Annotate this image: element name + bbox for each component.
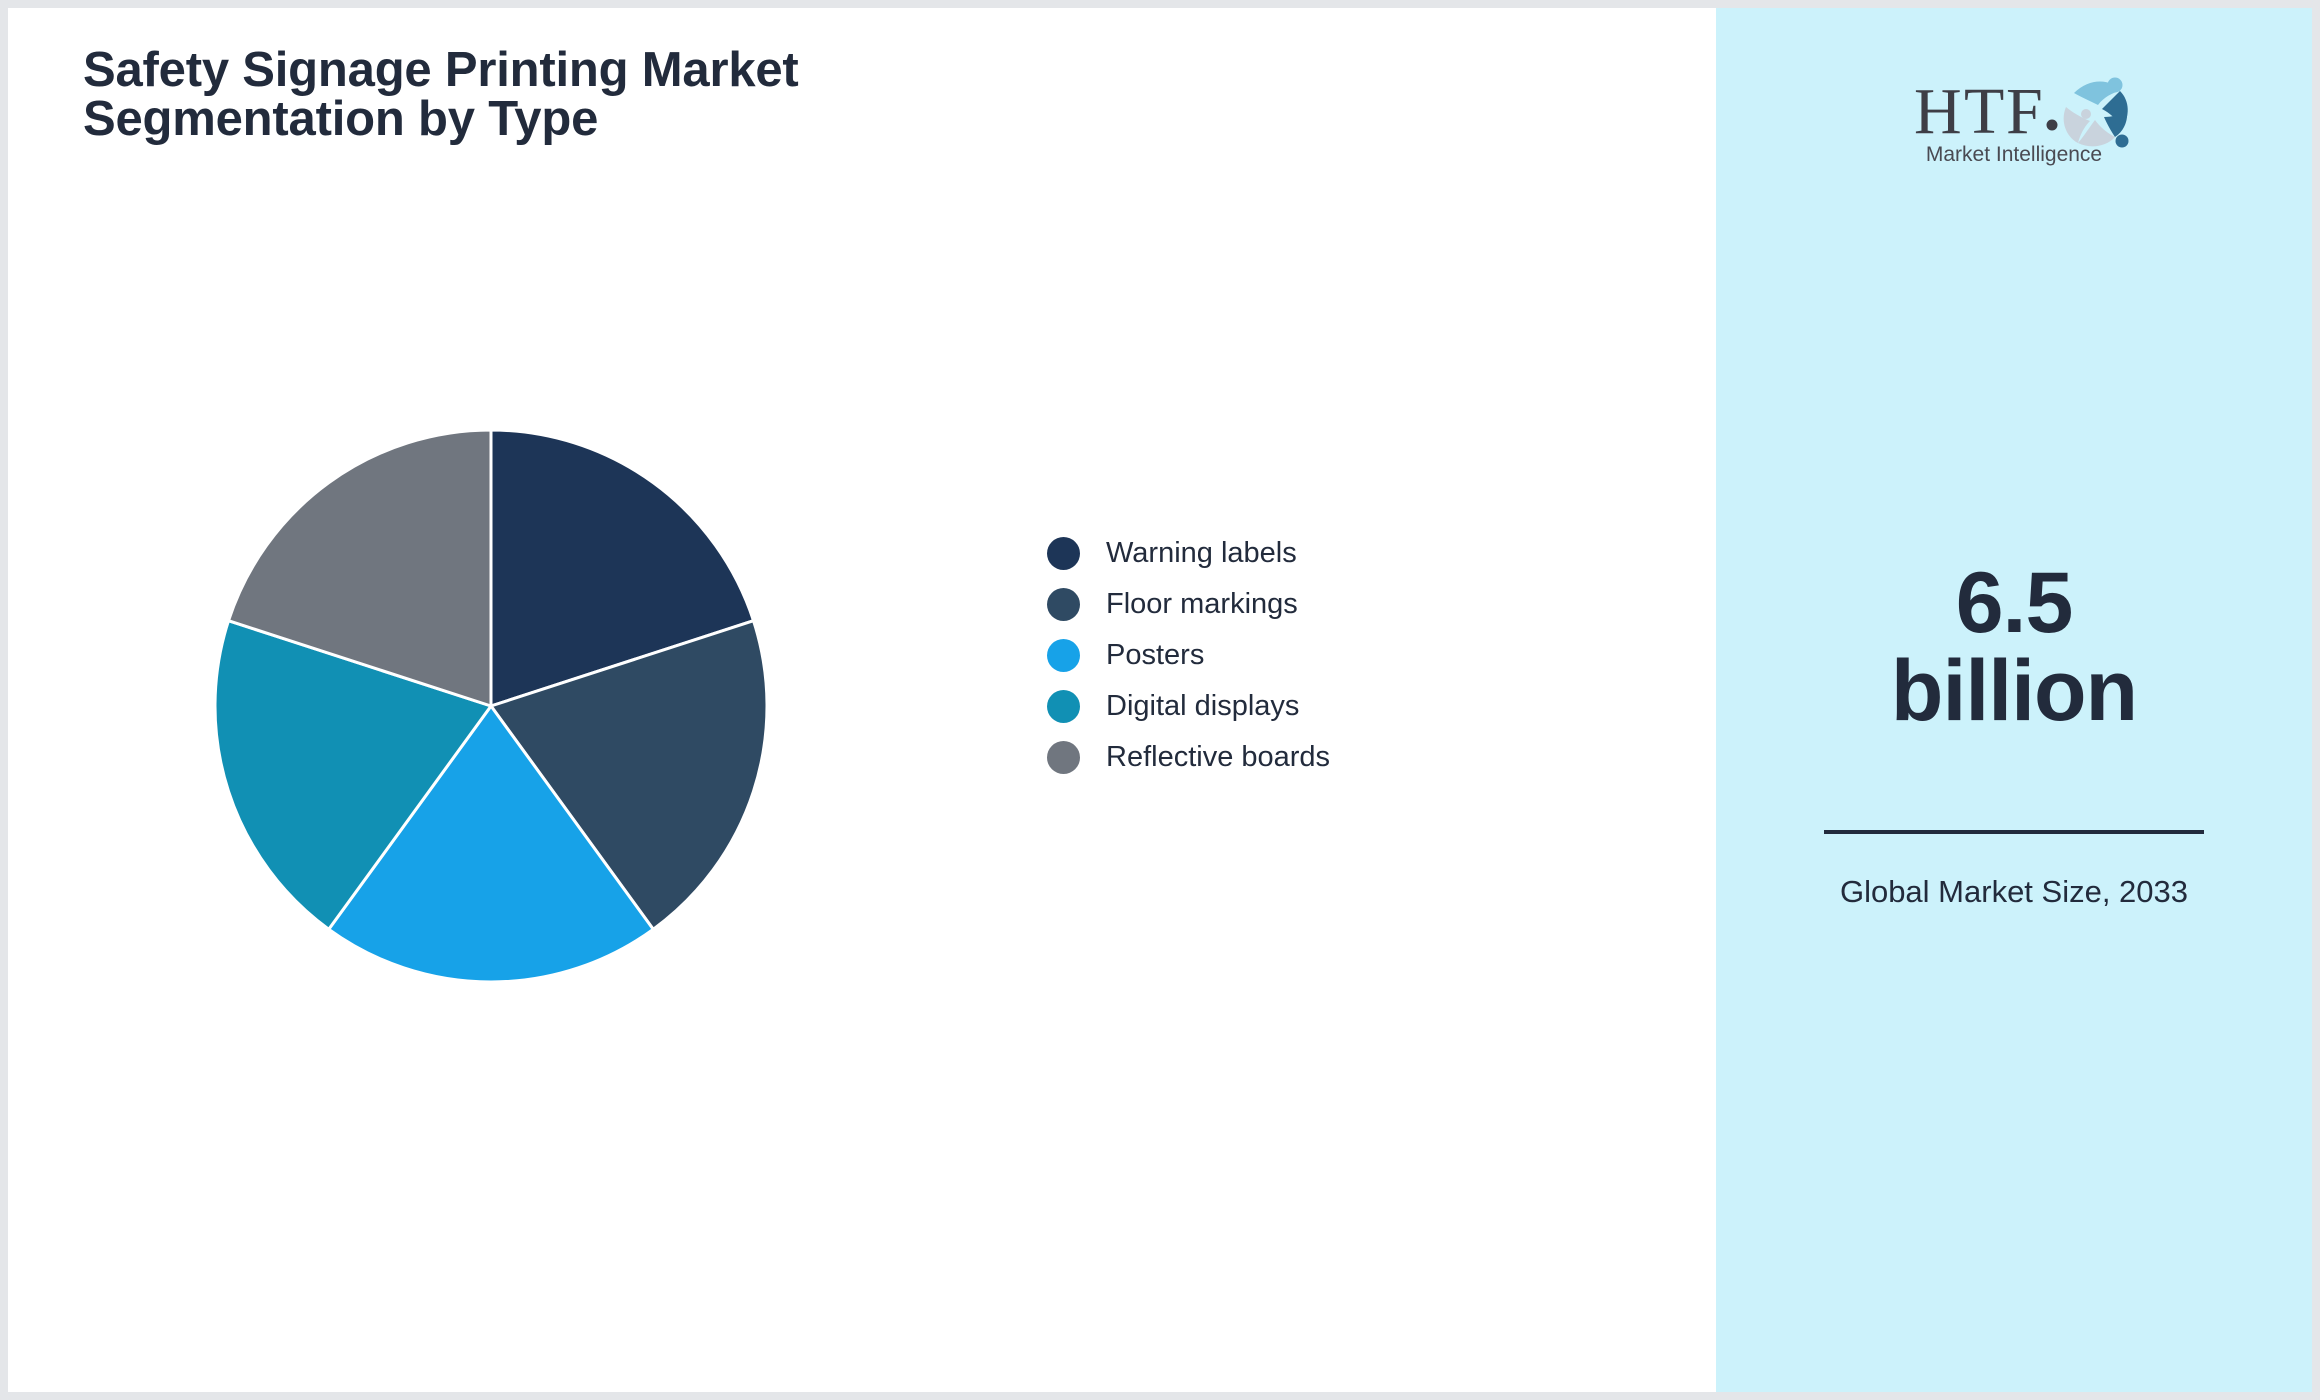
legend-item-digital-displays[interactable]: Digital displays (1047, 681, 1567, 732)
stat-divider (1824, 830, 2204, 834)
legend-item-label: Warning labels (1106, 537, 1297, 570)
content-card: Safety Signage Printing Market Segmentat… (8, 8, 2312, 1392)
legend-swatch-icon (1047, 639, 1080, 672)
legend-swatch-icon (1047, 741, 1080, 774)
legend-item-posters[interactable]: Posters (1047, 630, 1567, 681)
legend-item-label: Reflective boards (1106, 741, 1330, 774)
svg-text:F: F (2006, 75, 2044, 148)
legend-item-reflective-boards[interactable]: Reflective boards (1047, 732, 1567, 783)
svg-text:Market Intelligence: Market Intelligence (1926, 143, 2102, 166)
svg-text:H: H (1914, 75, 1963, 148)
stat-caption: Global Market Size, 2033 (1798, 870, 2230, 915)
legend-item-label: Digital displays (1106, 690, 1299, 723)
svg-text:T: T (1964, 75, 2005, 148)
stat-value: 6.5 billion (1746, 560, 2282, 735)
chart-panel: Safety Signage Printing Market Segmentat… (8, 8, 1716, 1392)
legend-item-floor-markings[interactable]: Floor markings (1047, 579, 1567, 630)
legend-item-warning-labels[interactable]: Warning labels (1047, 528, 1567, 579)
page-title: Safety Signage Printing Market Segmentat… (83, 46, 1083, 144)
stat-panel: H T F (1716, 8, 2312, 1392)
legend-item-label: Posters (1106, 639, 1204, 672)
legend-swatch-icon (1047, 588, 1080, 621)
brand-logo: H T F (1716, 58, 2312, 168)
chart-legend: Warning labels Floor markings Posters Di… (1047, 528, 1567, 783)
legend-item-label: Floor markings (1106, 588, 1298, 621)
infographic-canvas: Safety Signage Printing Market Segmentat… (0, 0, 2320, 1400)
legend-swatch-icon (1047, 537, 1080, 570)
pie-chart (207, 422, 775, 990)
htf-market-intelligence-logo-icon: H T F (1884, 57, 2144, 169)
legend-swatch-icon (1047, 690, 1080, 723)
pie-chart-svg (207, 422, 775, 990)
